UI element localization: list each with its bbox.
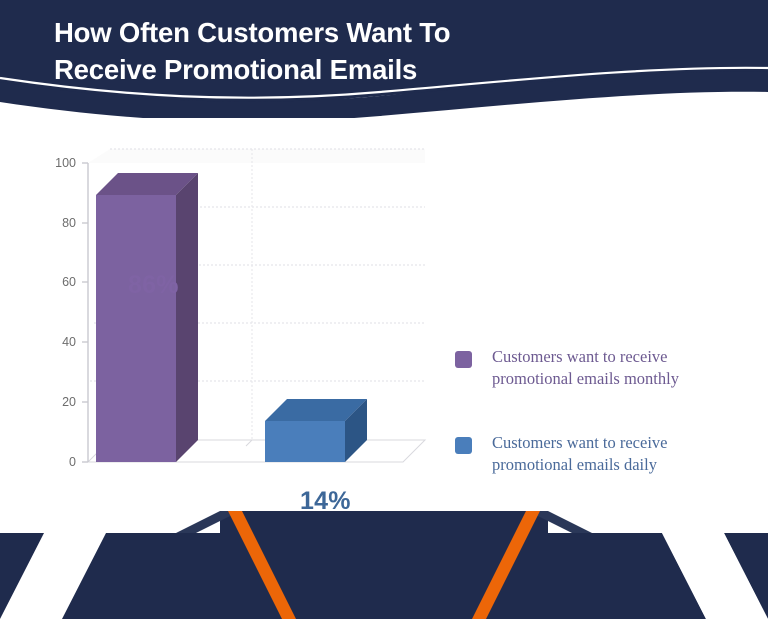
legend-swatch-blue-icon [455, 437, 472, 454]
legend-item-monthly[interactable]: Customers want to receive promotional em… [455, 346, 755, 390]
y-axis-tick-40: 40 [40, 335, 76, 349]
y-axis-tick-60: 60 [40, 275, 76, 289]
y-axis-tick-20: 20 [40, 395, 76, 409]
y-axis-tick-0: 0 [40, 455, 76, 469]
legend-label-daily: Customers want to receive promotional em… [492, 432, 668, 476]
bar-1-front [265, 421, 345, 462]
legend-swatch-purple-icon [455, 351, 472, 368]
footer-center-block [220, 511, 548, 619]
chart-legend: Customers want to receive promotional em… [455, 346, 755, 518]
bar-0-front [96, 195, 176, 462]
bar-0-side [176, 173, 198, 462]
chart-y-axis [82, 163, 88, 462]
y-axis-tick-100: 100 [40, 156, 76, 170]
legend-label-monthly: Customers want to receive promotional em… [492, 346, 679, 390]
chart-container: 100 80 60 40 20 0 86% 14% Customers want… [0, 118, 768, 500]
infographic-canvas: How Often Customers Want To Receive Prom… [0, 0, 768, 619]
header-banner: How Often Customers Want To Receive Prom… [0, 0, 768, 118]
footer-banner: Leeline [0, 495, 768, 619]
page-title: How Often Customers Want To Receive Prom… [54, 14, 694, 88]
bar-series-0 [96, 173, 198, 462]
y-axis-tick-80: 80 [40, 216, 76, 230]
legend-item-daily[interactable]: Customers want to receive promotional em… [455, 432, 755, 476]
bar-series-1 [265, 399, 367, 462]
bar-value-label-monthly: 86% [128, 271, 179, 300]
